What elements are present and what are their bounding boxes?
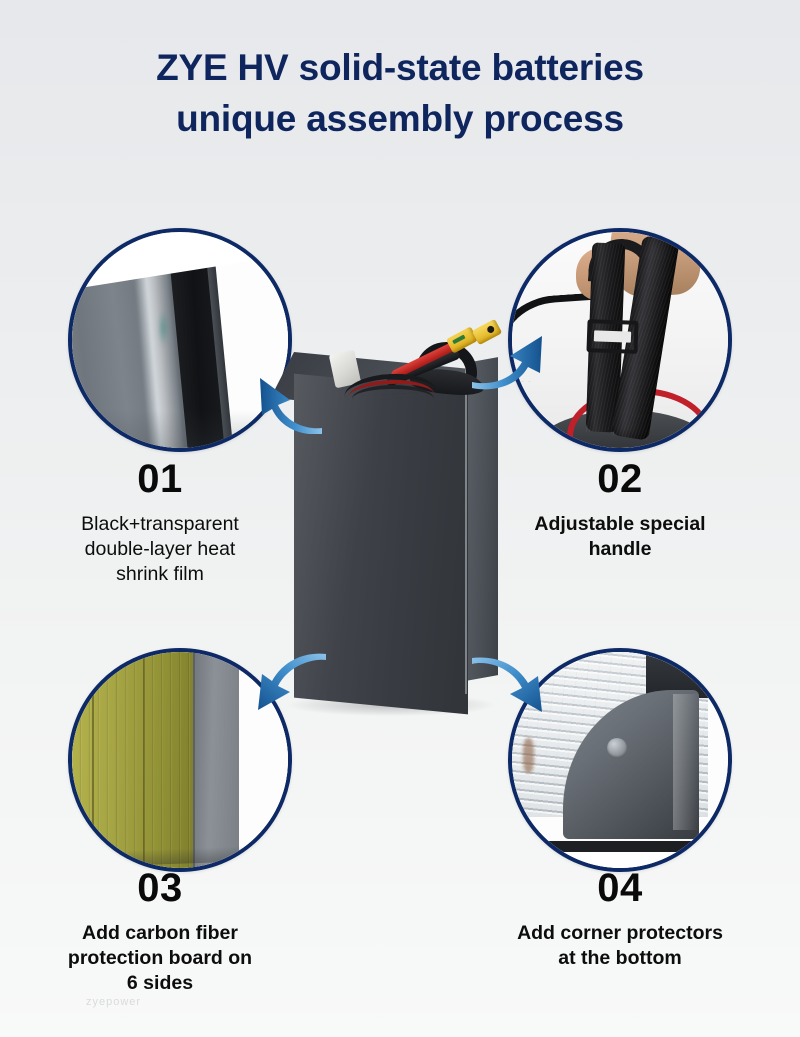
step-caption-04-line-2: at the bottom: [450, 946, 790, 971]
film-teal-tint: [158, 309, 169, 346]
arrow-to-step-02: [470, 328, 550, 390]
corner-protector-gloss: [673, 694, 699, 830]
arrow-to-step-03: [252, 652, 330, 714]
step-caption-04-line-1: Add corner protectors: [450, 921, 790, 946]
watermark: zyepower: [86, 996, 141, 1008]
step-caption-02-line-2: handle: [450, 537, 790, 562]
step-number-03: 03: [0, 866, 330, 911]
arrow-to-step-04: [468, 656, 548, 718]
carbon-fiber-side-panel: [193, 648, 241, 872]
step-caption-01-line-3: shrink film: [0, 562, 330, 587]
carbon-fiber-face: [68, 648, 198, 872]
step-caption-03-line-1: Add carbon fiber: [0, 921, 330, 946]
battery-side-face: [466, 357, 498, 681]
page-title: ZYE HV solid-state batteries unique asse…: [0, 42, 800, 144]
step-caption-02: Adjustable special handle: [450, 512, 790, 562]
corner-protector-bottom-edge: [545, 841, 708, 852]
step-caption-02-line-1: Adjustable special: [450, 512, 790, 537]
step-caption-03-line-2: protection board on: [0, 946, 330, 971]
arrow-to-step-01: [250, 372, 326, 434]
page-title-line-2: unique assembly process: [0, 93, 800, 144]
battery-corner-seam: [465, 364, 467, 694]
page-title-line-1: ZYE HV solid-state batteries: [0, 42, 800, 93]
carbon-fiber-edge: [193, 648, 195, 872]
step-number-02: 02: [450, 457, 790, 502]
step-caption-04: Add corner protectors at the bottom: [450, 921, 790, 971]
strap-buckle-bar: [593, 331, 631, 343]
step-caption-01-line-2: double-layer heat: [0, 537, 330, 562]
step-caption-01: Black+transparent double-layer heat shri…: [0, 512, 330, 587]
step-number-04: 04: [450, 866, 790, 911]
surface-blemish: [523, 738, 534, 773]
step-caption-03-line-3: 6 sides: [0, 971, 330, 996]
step-caption-01-line-1: Black+transparent: [0, 512, 330, 537]
corner-protector-rivet: [607, 738, 627, 758]
carbon-fiber-groove-2: [143, 648, 145, 872]
xt-connector-male-keyway: [452, 335, 465, 345]
step-number-01: 01: [0, 457, 330, 502]
step-caption-03: Add carbon fiber protection board on 6 s…: [0, 921, 330, 996]
carbon-fiber-groove-1: [92, 648, 94, 872]
